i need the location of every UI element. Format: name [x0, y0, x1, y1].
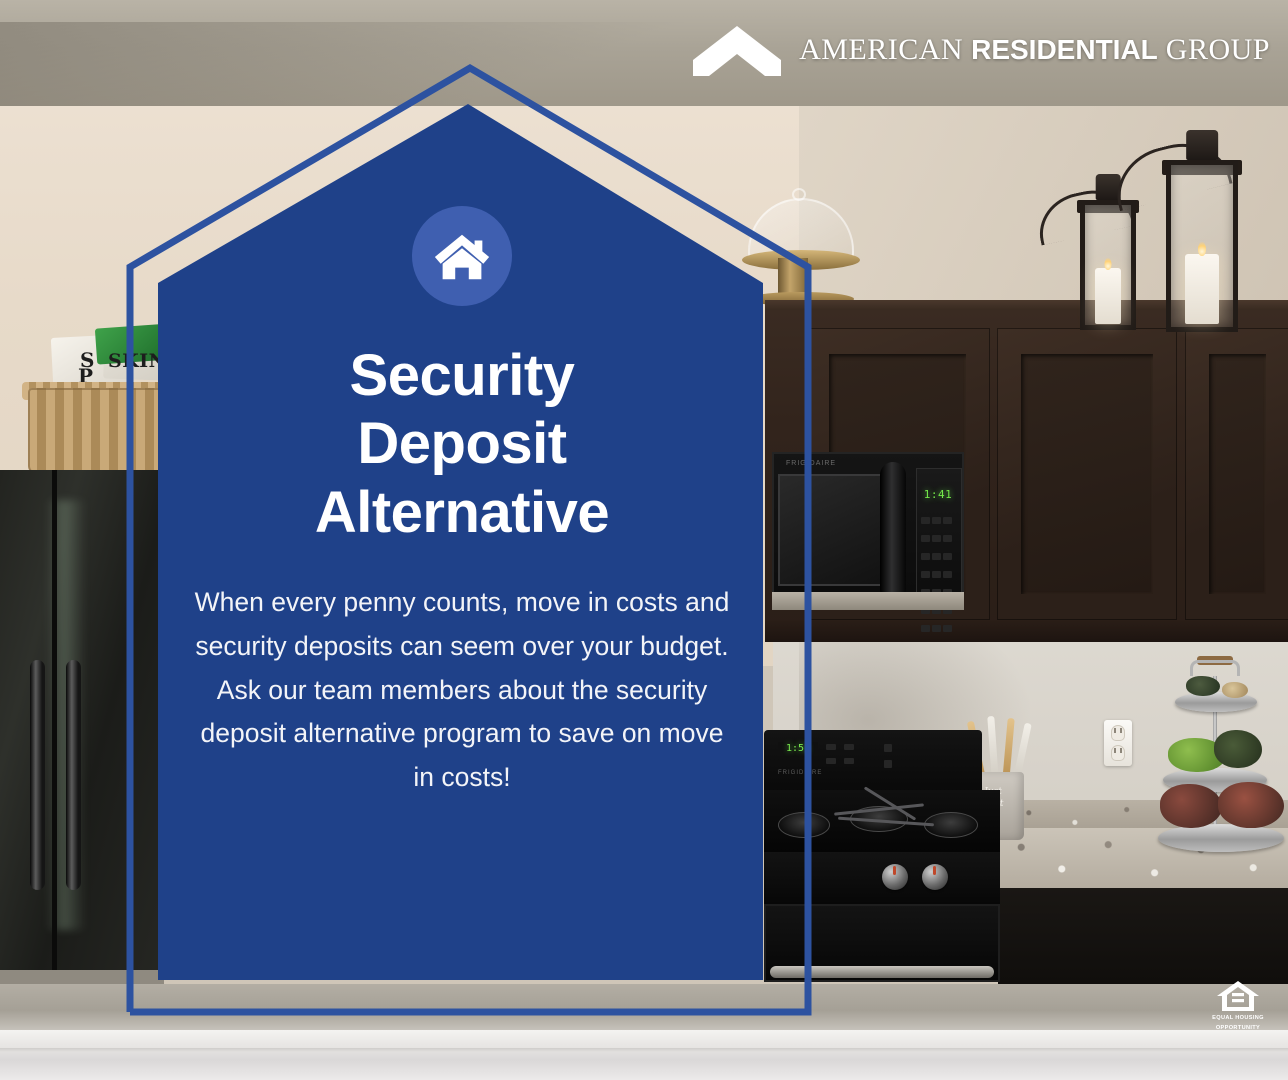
brand-name-part2: RESIDENTIAL	[971, 34, 1158, 65]
chevron-roof-icon	[693, 24, 781, 76]
equal-housing-icon	[1216, 980, 1260, 1012]
equal-housing-line1: EQUAL HOUSING	[1210, 1015, 1266, 1022]
headline-line-3: Alternative	[182, 479, 742, 547]
brand-name-part1: AMERICAN	[799, 33, 963, 66]
headline-line-2: Deposit	[182, 410, 742, 478]
body-copy: When every penny counts, move in costs a…	[192, 581, 732, 800]
brand-name-part3: GROUP	[1166, 33, 1270, 66]
page-title: Security Deposit Alternative	[182, 342, 742, 547]
promotional-graphic: FRIGIDAIRE 1:41	[0, 0, 1288, 1080]
headline-line-1: Security	[182, 342, 742, 410]
equal-housing-opportunity-logo: EQUAL HOUSING OPPORTUNITY	[1210, 980, 1266, 1036]
home-icon	[431, 225, 493, 287]
brand-logo: AMERICAN RESIDENTIAL GROUP	[693, 24, 1270, 76]
equal-housing-line2: OPPORTUNITY	[1210, 1025, 1266, 1032]
brand-name: AMERICAN RESIDENTIAL GROUP	[799, 33, 1270, 67]
card-content: Security Deposit Alternative When every …	[160, 96, 764, 800]
home-icon-badge	[412, 206, 512, 306]
